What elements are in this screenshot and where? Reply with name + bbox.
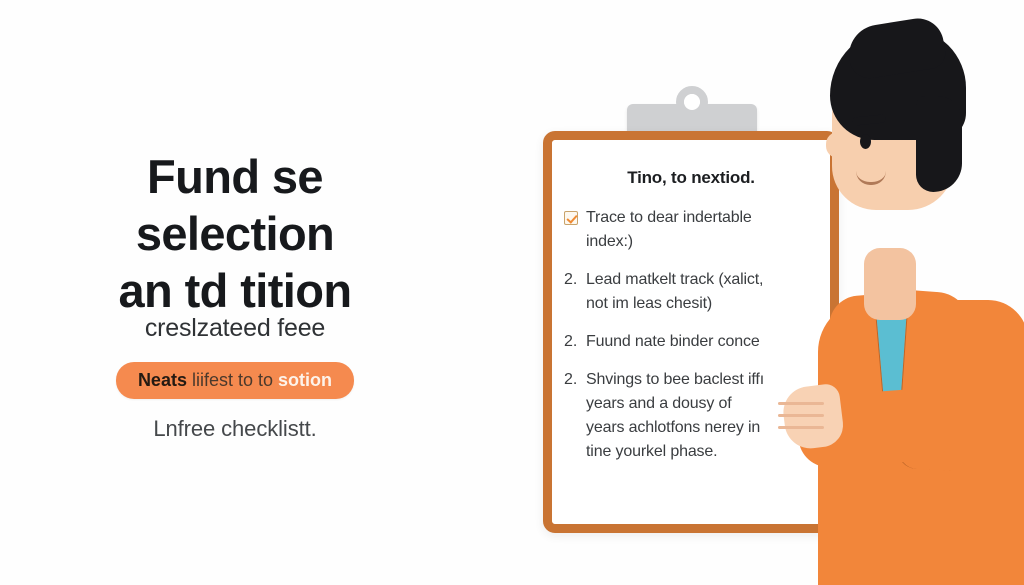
badge-light-text: sotion [278,370,332,390]
list-item-marker [564,206,586,233]
list-item-marker: 2. [564,268,586,292]
hand [780,383,845,452]
page-title: Fund se selection an td tition [0,148,470,319]
headline-line-2: selection [0,205,470,262]
badge-strong-text: Neats [138,370,187,390]
person-illustration [760,0,1024,585]
finger-line [778,414,824,417]
list-item-marker: 2. [564,330,586,354]
checkbox-checked-icon[interactable] [564,211,578,225]
sideburn [916,96,962,192]
badge-container: Neats liifest to to sotion [0,362,470,399]
finger-line [778,426,824,429]
illustration-canvas: Fund se selection an td tition creslzate… [0,0,1024,585]
nose [826,132,848,158]
clipboard-clip-ring-hole [684,94,700,110]
list-item-marker: 2. [564,368,586,392]
headline-line-1: Fund se [0,148,470,205]
badge-mid-text: liifest to to [192,370,273,390]
headline-line-3: an td tition [0,262,470,319]
footnote-text: Lnfree checklistt. [0,414,470,444]
eye [860,134,871,149]
finger-line [778,402,824,405]
subheading: creslzateed feee [0,312,470,344]
status-badge: Neats liifest to to sotion [116,362,354,399]
left-text-column: Fund se selection an td tition creslzate… [0,0,470,585]
neck [864,248,916,320]
